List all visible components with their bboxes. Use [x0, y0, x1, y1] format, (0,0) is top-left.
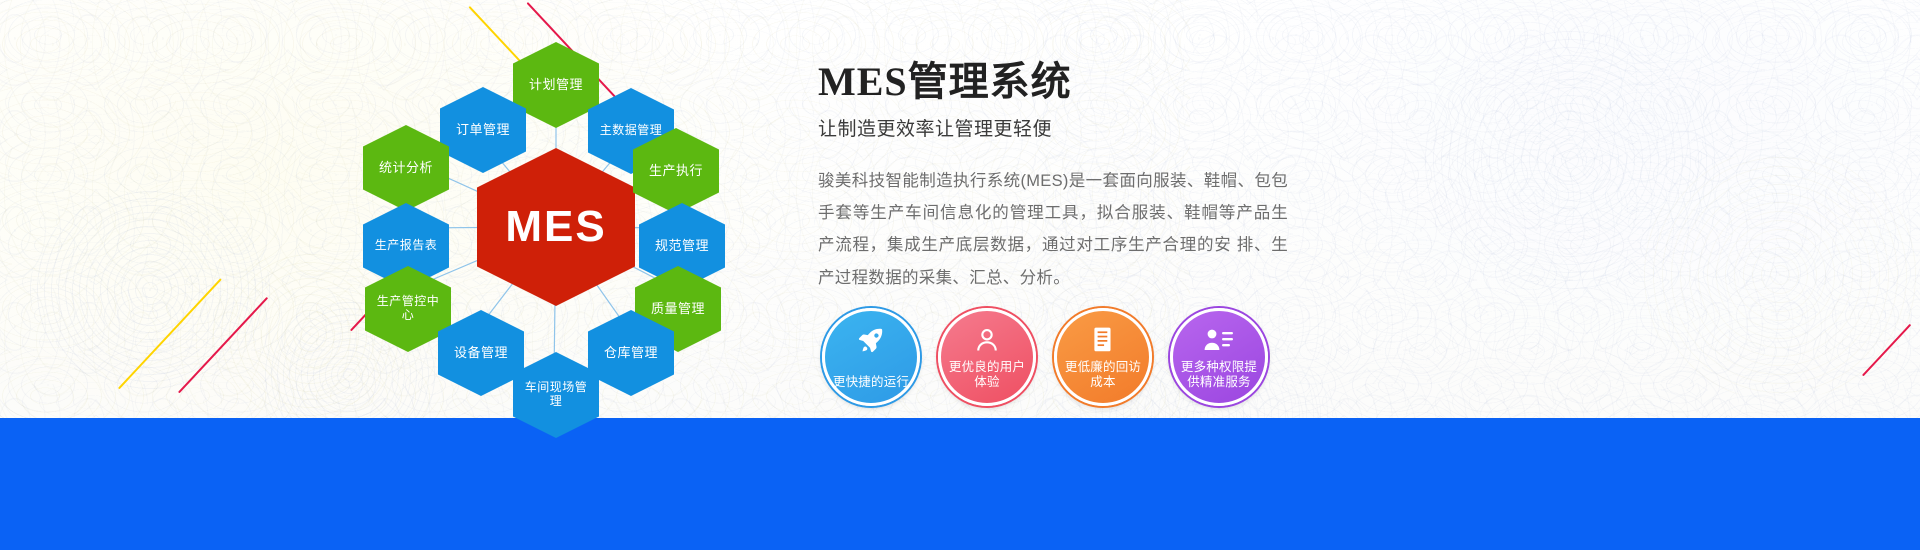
hex-label: 车间现场管理: [513, 381, 599, 409]
hex-core-label: MES: [499, 202, 612, 253]
hex-label: 仓库管理: [598, 346, 664, 361]
badge-label: 更多种权限提供精准服务: [1176, 360, 1262, 391]
hex-label: 主数据管理: [594, 124, 669, 138]
feature-badge-fast-operation[interactable]: 更快捷的运行: [822, 308, 920, 406]
bottom-blue-band: [0, 418, 1920, 550]
mes-promo-banner: MES 计划管理 订单管理 主数据管理 生产执行 统计分析 规范管理 生产报告表…: [0, 0, 1920, 550]
hex-label: 计划管理: [523, 78, 589, 93]
background-swirl-e: [1640, 150, 1920, 400]
hex-label: 生产管控中心: [365, 295, 451, 323]
description-paragraph: 骏美科技智能制造执行系统(MES)是一套面向服装、鞋帽、包包手套等生产车间信息化…: [818, 165, 1288, 294]
page-subtitle: 让制造更效率让管理更轻便: [818, 114, 1288, 141]
hex-label: 设备管理: [448, 346, 514, 361]
hex-label: 规范管理: [649, 239, 715, 254]
mes-hex-diagram: MES 计划管理 订单管理 主数据管理 生产执行 统计分析 规范管理 生产报告表…: [330, 20, 800, 440]
hex-label: 生产执行: [643, 164, 709, 179]
hex-label: 质量管理: [645, 302, 711, 317]
feature-badge-permission-service[interactable]: 更多种权限提供精准服务: [1170, 308, 1268, 406]
hex-label: 生产报告表: [369, 239, 444, 253]
feature-badge-user-experience[interactable]: 更优良的用户体验: [938, 308, 1036, 406]
feature-badge-low-revisit-cost[interactable]: 更低廉的回访成本: [1054, 308, 1152, 406]
user-list-icon: [1173, 323, 1265, 357]
feature-badge-list: 更快捷的运行 更优良的用户体验: [822, 308, 1268, 406]
info-column: MES管理系统 让制造更效率让管理更轻便 骏美科技智能制造执行系统(MES)是一…: [818, 60, 1288, 294]
document-icon: [1057, 323, 1149, 357]
badge-label: 更快捷的运行: [828, 375, 914, 391]
hex-label: 统计分析: [373, 161, 439, 176]
user-icon: [941, 323, 1033, 357]
page-title: MES管理系统: [818, 60, 1288, 104]
rocket-icon: [825, 323, 917, 357]
badge-label: 更优良的用户体验: [944, 360, 1030, 391]
badge-label: 更低廉的回访成本: [1060, 360, 1146, 391]
hex-label: 订单管理: [450, 123, 516, 138]
